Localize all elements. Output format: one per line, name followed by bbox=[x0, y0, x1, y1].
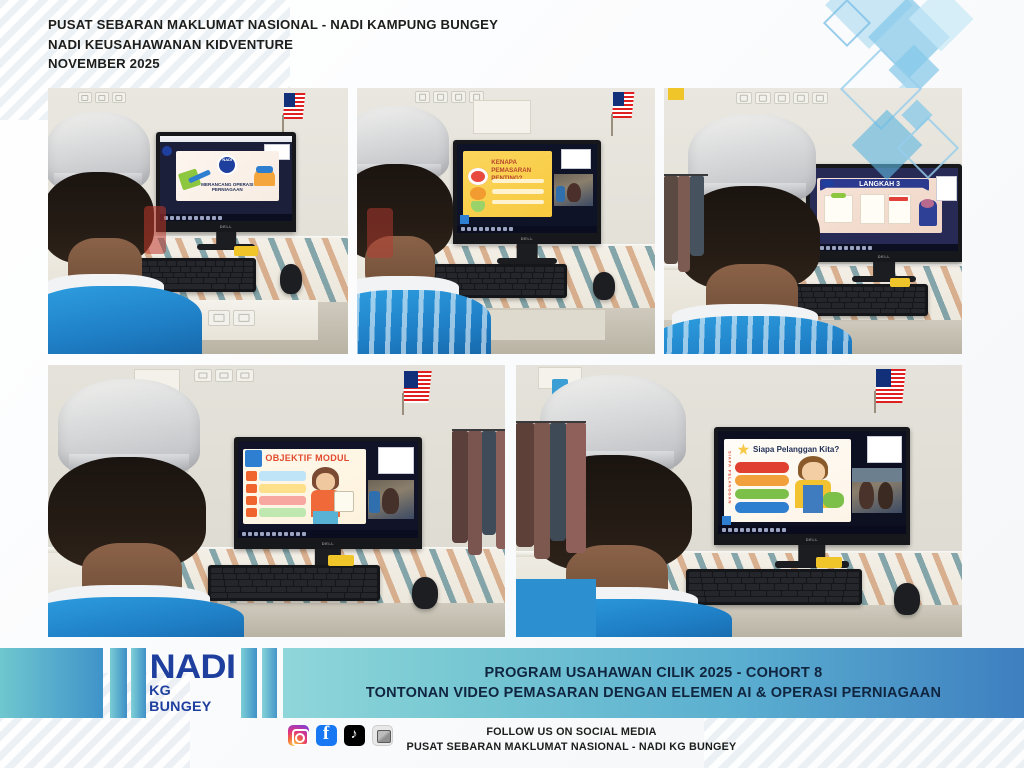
social-icon-group bbox=[288, 725, 393, 746]
mouse-4 bbox=[412, 577, 438, 609]
social-line-2: PUSAT SEBARAN MAKLUMAT NASIONAL - NADI K… bbox=[407, 740, 737, 755]
nadi-logo: NADI KG BUNGEY bbox=[150, 652, 236, 714]
facebook-icon[interactable] bbox=[316, 725, 337, 746]
monitor-3: LANGKAH 3 DELL bbox=[806, 164, 962, 262]
slide-3: LANGKAH 3 bbox=[817, 178, 941, 233]
monitor-screen-3: LANGKAH 3 bbox=[810, 168, 958, 251]
photo-4: OBJEKTIF MODUL bbox=[48, 365, 505, 637]
footer-banner: NADI KG BUNGEY PROGRAM USAHAWAN CILIK 20… bbox=[0, 648, 1024, 718]
header-line-3: NOVEMBER 2025 bbox=[48, 54, 498, 74]
slide-5: SIAPA PELANGGAN Siapa Pelanggan Kita? bbox=[724, 439, 852, 521]
clothes-rack-5 bbox=[516, 421, 586, 581]
photo-2: KENAPA PEMASARAN PENTING? DELL bbox=[357, 88, 655, 354]
monitor-5: SIAPA PELANGGAN Siapa Pelanggan Kita? bbox=[714, 427, 910, 545]
banner-bar-1 bbox=[0, 648, 103, 718]
malaysia-flag bbox=[404, 371, 430, 403]
slide-3-title: LANGKAH 3 bbox=[859, 181, 900, 188]
logo-line-1: NADI bbox=[150, 652, 236, 682]
banner-title-line-2: TONTONAN VIDEO PEMASARAN DENGAN ELEMEN A… bbox=[366, 685, 941, 701]
monitor-1: NADI MERANCANG OPERASI PERNIAGAAN DELL bbox=[156, 132, 296, 232]
decorative-diamond-3 bbox=[908, 0, 973, 52]
mouse-5 bbox=[894, 583, 920, 615]
malaysia-flag bbox=[876, 369, 904, 403]
decorative-diamond-2 bbox=[868, 0, 950, 78]
photo-5: SIAPA PELANGGAN Siapa Pelanggan Kita? bbox=[516, 365, 962, 637]
clothes-rack-4 bbox=[452, 429, 505, 579]
threads-icon[interactable] bbox=[372, 725, 393, 746]
slide-5-side-label: SIAPA PELANGGAN bbox=[727, 451, 732, 504]
page-title: PUSAT SEBARAN MAKLUMAT NASIONAL - NADI K… bbox=[48, 15, 498, 74]
banner-bar-2 bbox=[110, 648, 127, 718]
photo-1: NADI MERANCANG OPERASI PERNIAGAAN DELL bbox=[48, 88, 348, 354]
logo-line-2: KG BUNGEY bbox=[149, 682, 237, 714]
photo-3: LANGKAH 3 DELL bbox=[664, 88, 962, 354]
slide-4-title: OBJEKTIF MODUL bbox=[265, 453, 349, 463]
banner-bar-4 bbox=[241, 648, 257, 718]
keyboard-4 bbox=[208, 565, 380, 601]
slide-1: NADI MERANCANG OPERASI PERNIAGAAN bbox=[176, 151, 279, 200]
slide-5-title: Siapa Pelanggan Kita? bbox=[753, 445, 839, 454]
slide-1-title: MERANCANG OPERASI PERNIAGAAN bbox=[191, 182, 263, 192]
slide-4: OBJEKTIF MODUL bbox=[243, 449, 365, 525]
webcam-panel-5 bbox=[852, 468, 903, 513]
banner-title-line-1: PROGRAM USAHAWAN CILIK 2025 - COHORT 8 bbox=[485, 665, 823, 681]
keyboard-5 bbox=[686, 569, 862, 605]
monitor-screen-1: NADI MERANCANG OPERASI PERNIAGAAN bbox=[160, 136, 292, 221]
mouse-2 bbox=[593, 272, 615, 300]
tiktok-icon[interactable] bbox=[344, 725, 365, 746]
monitor-screen-5: SIAPA PELANGGAN Siapa Pelanggan Kita? bbox=[718, 431, 906, 534]
header-line-1: PUSAT SEBARAN MAKLUMAT NASIONAL - NADI K… bbox=[48, 15, 498, 35]
social-text: FOLLOW US ON SOCIAL MEDIA PUSAT SEBARAN … bbox=[407, 725, 737, 755]
decorative-diamond-outline-1 bbox=[823, 0, 871, 47]
slide-2: KENAPA PEMASARAN PENTING? bbox=[463, 151, 553, 217]
decorative-diamond-1 bbox=[825, 0, 913, 49]
webcam-panel-4 bbox=[368, 480, 415, 519]
clothes-rack-3 bbox=[664, 174, 708, 294]
instagram-icon[interactable] bbox=[288, 725, 309, 746]
social-footer: FOLLOW US ON SOCIAL MEDIA PUSAT SEBARAN … bbox=[0, 722, 1024, 768]
banner-bar-3 bbox=[131, 648, 146, 718]
malaysia-flag bbox=[284, 93, 304, 119]
monitor-4: OBJEKTIF MODUL bbox=[234, 437, 422, 549]
monitor-screen-4: OBJEKTIF MODUL bbox=[238, 441, 418, 538]
wall-sockets bbox=[78, 92, 126, 103]
webcam-panel-2 bbox=[554, 174, 593, 206]
banner-bar-5 bbox=[262, 648, 277, 718]
banner-title: PROGRAM USAHAWAN CILIK 2025 - COHORT 8 T… bbox=[283, 648, 1024, 718]
mouse-1 bbox=[280, 264, 302, 294]
social-line-1: FOLLOW US ON SOCIAL MEDIA bbox=[407, 725, 737, 740]
poster-canvas: PUSAT SEBARAN MAKLUMAT NASIONAL - NADI K… bbox=[0, 0, 1024, 768]
header-line-2: NADI KEUSAHAWANAN KIDVENTURE bbox=[48, 35, 498, 55]
monitor-screen-2: KENAPA PEMASARAN PENTING? bbox=[457, 144, 597, 233]
monitor-2: KENAPA PEMASARAN PENTING? DELL bbox=[453, 140, 601, 244]
malaysia-flag bbox=[613, 92, 633, 118]
